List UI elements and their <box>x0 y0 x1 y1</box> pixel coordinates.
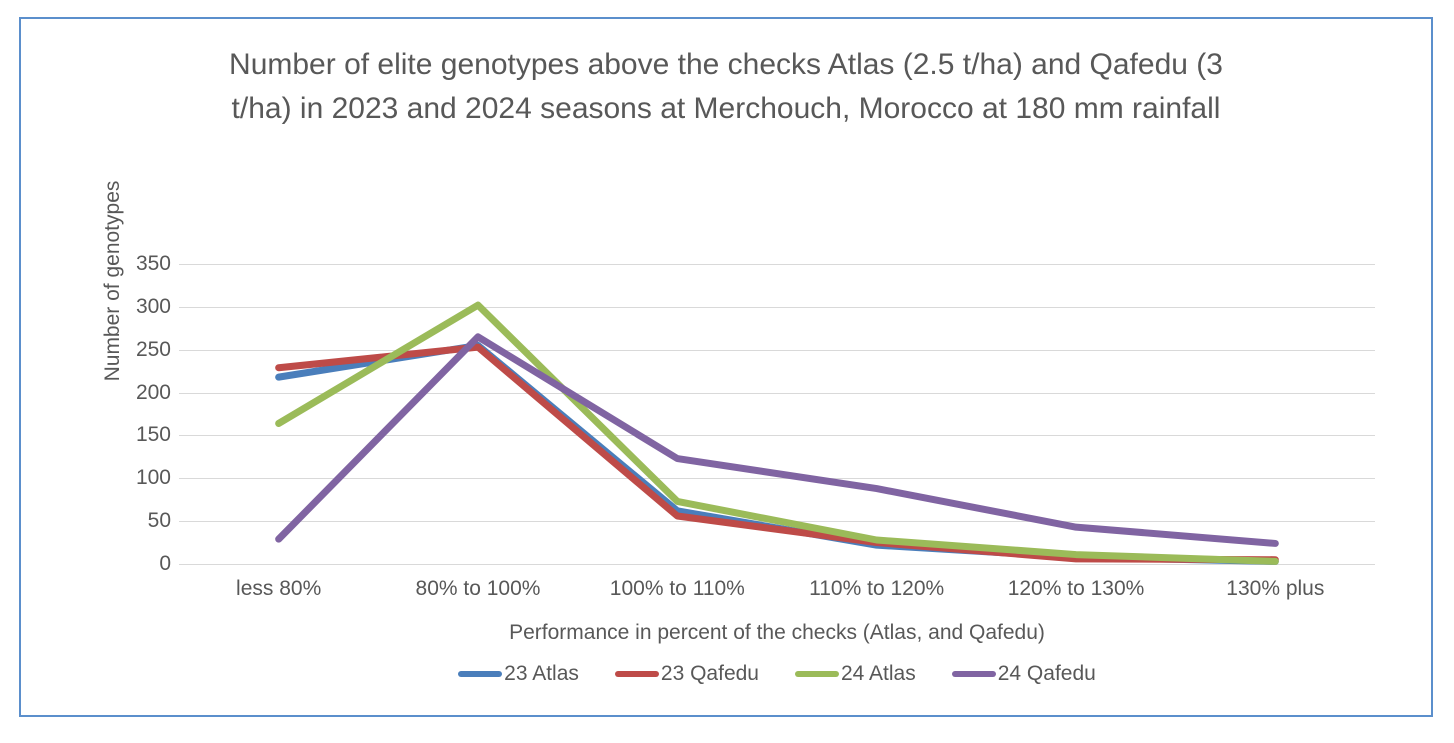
plot-area <box>179 264 1375 564</box>
x-axis-tick: 130% plus <box>1226 577 1324 601</box>
legend-label: 23 Qafedu <box>661 662 759 686</box>
y-axis-tick: 100 <box>136 466 171 490</box>
series-line <box>279 305 1276 561</box>
y-axis-tick: 300 <box>136 295 171 319</box>
y-axis-tick: 50 <box>148 509 171 533</box>
x-axis-tick: 120% to 130% <box>1008 577 1145 601</box>
legend-item[interactable]: 23 Qafedu <box>615 662 759 686</box>
legend-swatch-icon <box>952 671 996 677</box>
legend-label: 24 Qafedu <box>998 662 1096 686</box>
x-axis-tick-labels: less 80%80% to 100%100% to 110%110% to 1… <box>179 577 1375 611</box>
y-axis-tick-labels: 350300250200150100500 <box>109 264 171 564</box>
gridline <box>179 564 1375 565</box>
chart-title: Number of elite genotypes above the chec… <box>221 43 1231 131</box>
x-axis-tick: 100% to 110% <box>610 577 745 601</box>
series-lines <box>179 264 1375 564</box>
chart-frame: Number of elite genotypes above the chec… <box>19 17 1433 717</box>
legend-swatch-icon <box>795 671 839 677</box>
legend-label: 23 Atlas <box>504 662 579 686</box>
legend-item[interactable]: 23 Atlas <box>458 662 579 686</box>
legend-label: 24 Atlas <box>841 662 916 686</box>
x-axis-tick: 110% to 120% <box>809 577 944 601</box>
chart-screenshot: Number of elite genotypes above the chec… <box>0 0 1454 743</box>
x-axis-tick: 80% to 100% <box>416 577 541 601</box>
chart-legend: 23 Atlas23 Qafedu24 Atlas24 Qafedu <box>179 657 1375 691</box>
y-axis-tick: 0 <box>159 552 171 576</box>
y-axis-tick: 250 <box>136 338 171 362</box>
y-axis-tick: 150 <box>136 423 171 447</box>
series-line <box>279 337 1276 544</box>
x-axis-title: Performance in percent of the checks (At… <box>179 621 1375 645</box>
legend-item[interactable]: 24 Qafedu <box>952 662 1096 686</box>
legend-swatch-icon <box>615 671 659 677</box>
x-axis-tick: less 80% <box>236 577 321 601</box>
legend-swatch-icon <box>458 671 502 677</box>
legend-item[interactable]: 24 Atlas <box>795 662 916 686</box>
y-axis-tick: 350 <box>136 252 171 276</box>
y-axis-tick: 200 <box>136 381 171 405</box>
